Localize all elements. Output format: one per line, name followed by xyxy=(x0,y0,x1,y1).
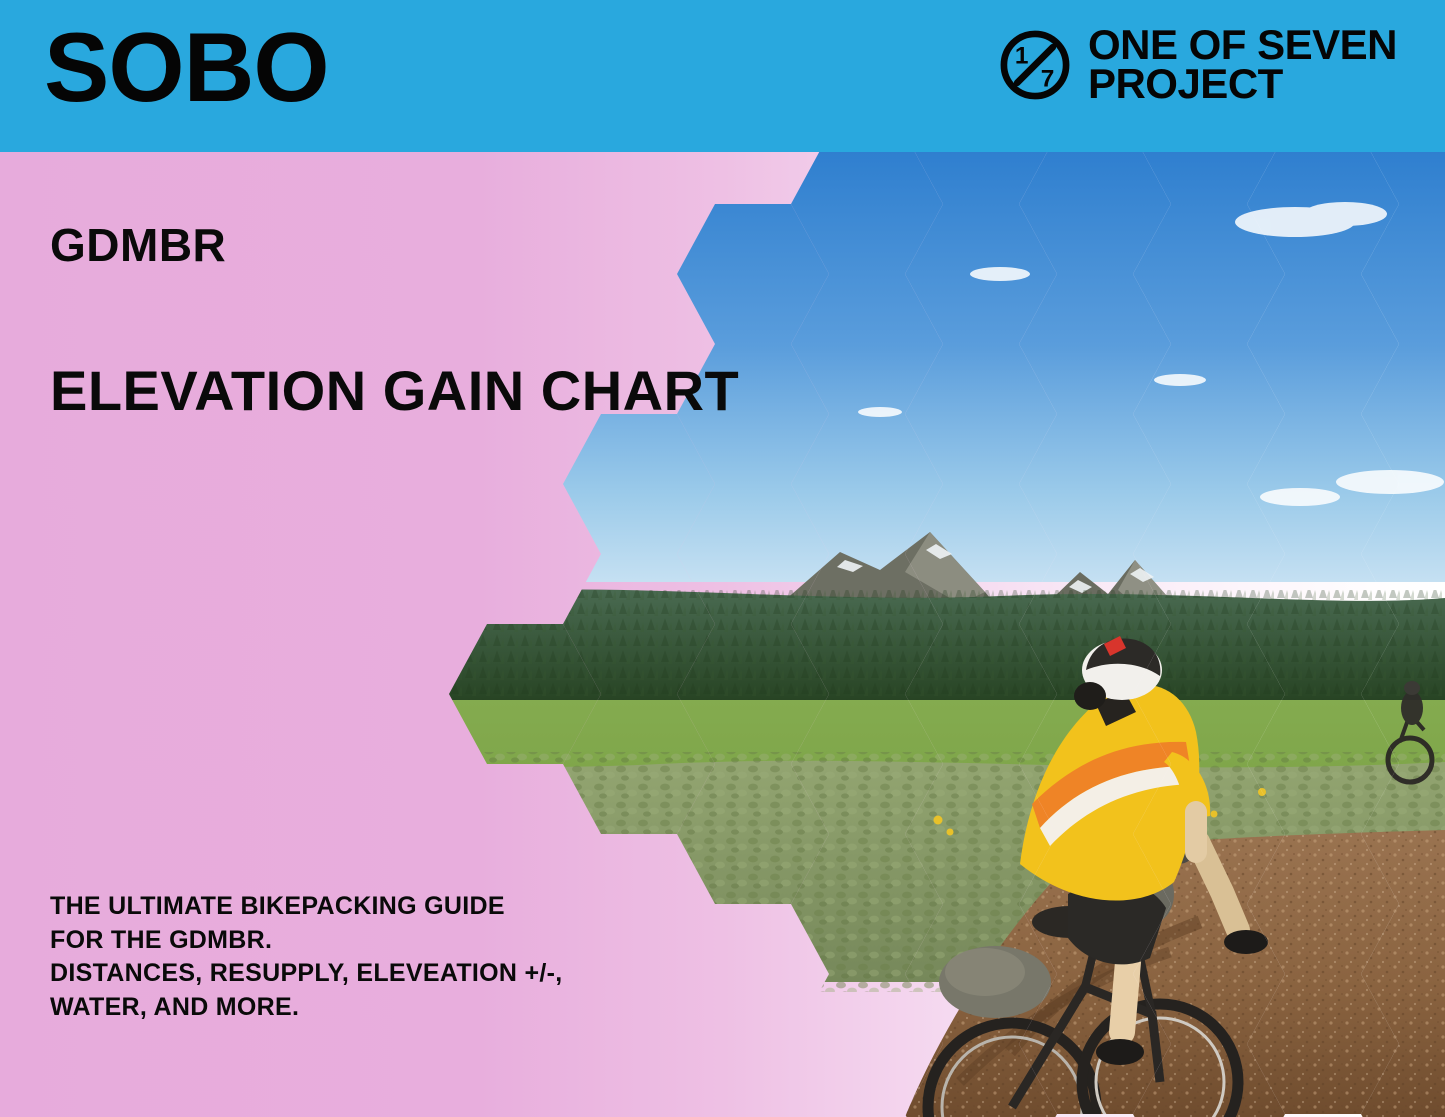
tagline-line-4: WATER, AND MORE. xyxy=(50,991,563,1025)
tagline-line-3: DISTANCES, RESUPPLY, ELEVEATION +/-, xyxy=(50,957,563,991)
tagline-line-2: FOR THE GDMBR. xyxy=(50,924,563,958)
tagline-line-1: THE ULTIMATE BIKEPACKING GUIDE xyxy=(50,890,563,924)
logo-line-1: ONE OF SEVEN xyxy=(1088,26,1397,65)
page-title: ELEVATION GAIN CHART xyxy=(50,358,739,423)
subject-label: GDMBR xyxy=(50,218,226,272)
one-seven-circle-icon: 1 7 xyxy=(998,28,1072,102)
logo-wordmark: ONE OF SEVEN PROJECT xyxy=(1088,26,1397,103)
svg-text:7: 7 xyxy=(1041,65,1055,92)
logo-line-2: PROJECT xyxy=(1088,65,1397,104)
svg-text:1: 1 xyxy=(1015,42,1029,69)
logo-lockup: 1 7 ONE OF SEVEN PROJECT xyxy=(998,26,1397,103)
poster-canvas: SOBO 1 7 ONE OF SEVEN PROJECT xyxy=(0,0,1445,1117)
brand-wordmark: SOBO xyxy=(44,18,329,116)
tagline-block: THE ULTIMATE BIKEPACKING GUIDE FOR THE G… xyxy=(50,890,563,1024)
header-bar: SOBO 1 7 ONE OF SEVEN PROJECT xyxy=(0,0,1445,152)
